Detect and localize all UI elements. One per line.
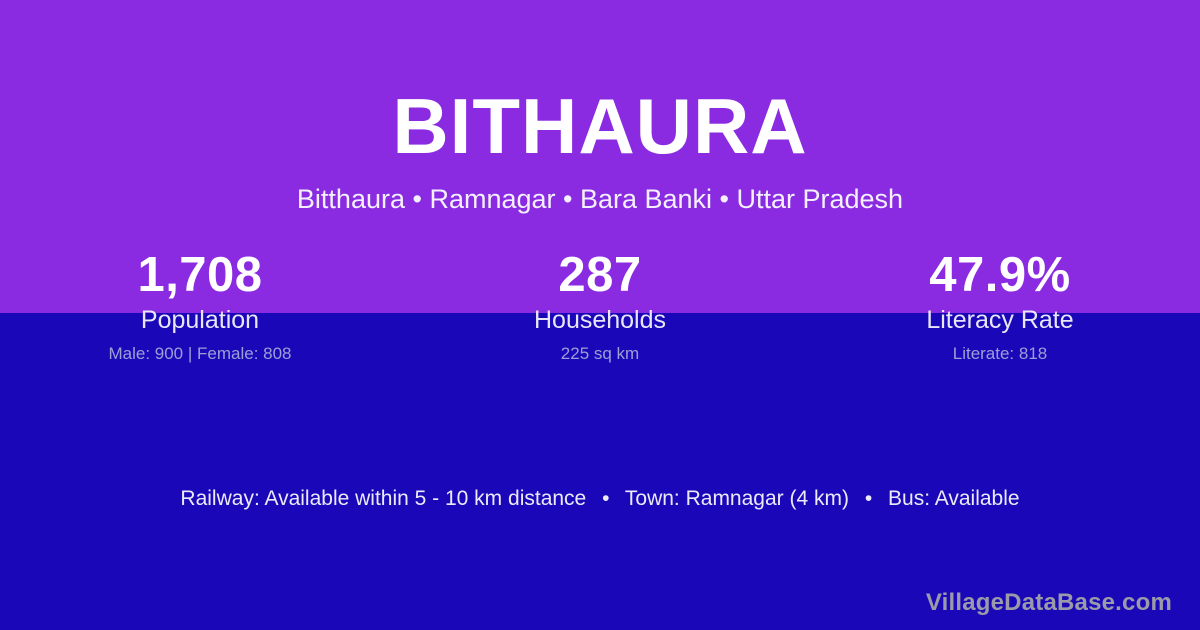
amenities-row: Railway: Available within 5 - 10 km dist… [0,483,1200,515]
amenity-bus: Bus: Available [888,487,1020,510]
stat-literacy-label: Literacy Rate [800,305,1200,336]
amenity-separator-2: • [855,487,882,510]
stat-households: 287 Households 225 sq km [400,246,800,364]
stats-row: 1,708 Population Male: 900 | Female: 808… [0,246,1200,364]
stat-households-value: 287 [400,246,800,305]
stat-literacy: 47.9% Literacy Rate Literate: 818 [800,246,1200,364]
breadcrumb: Bitthaura • Ramnagar • Bara Banki • Utta… [0,181,1200,217]
stat-literacy-sub: Literate: 818 [800,343,1200,364]
page-title: BITHAURA [0,80,1200,172]
amenity-separator-1: • [592,487,619,510]
stat-population: 1,708 Population Male: 900 | Female: 808 [0,246,400,364]
stat-population-sub: Male: 900 | Female: 808 [0,343,400,364]
stat-households-sub: 225 sq km [400,343,800,364]
card-content: BITHAURA Bitthaura • Ramnagar • Bara Ban… [0,0,1200,630]
stat-population-label: Population [0,305,400,336]
site-brand: VillageDataBase.com [926,588,1172,618]
amenity-town: Town: Ramnagar (4 km) [625,487,849,510]
stat-households-label: Households [400,305,800,336]
village-info-card: BITHAURA Bitthaura • Ramnagar • Bara Ban… [0,0,1200,630]
amenity-railway: Railway: Available within 5 - 10 km dist… [180,487,586,510]
stat-population-value: 1,708 [0,246,400,305]
stat-literacy-value: 47.9% [800,246,1200,305]
